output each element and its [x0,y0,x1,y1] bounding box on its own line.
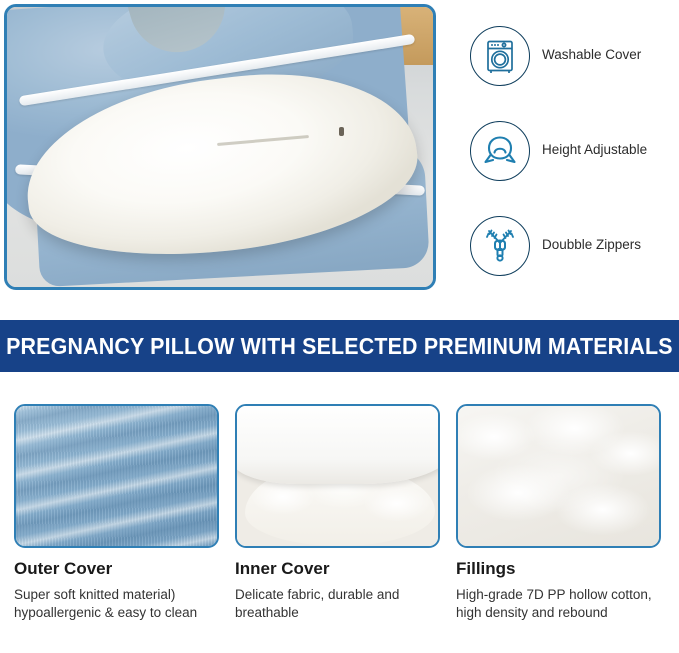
feature-height-adjustable: Height Adjustable [470,103,679,198]
feature-washable-cover: Washable Cover [470,8,679,103]
washing-machine-icon [470,26,530,86]
zipper-icon [470,216,530,276]
inner-cover-thumbnail [235,404,440,548]
material-card-inner-cover: Inner Cover Delicate fabric, durable and… [235,404,440,653]
pillow-notch [118,4,237,64]
outer-cover-thumbnail [14,404,219,548]
hero-scene [7,7,433,287]
material-title: Fillings [456,560,661,579]
blue-knit-texture [16,406,217,546]
material-card-fillings: Fillings High-grade 7D PP hollow cotton,… [456,404,661,653]
feature-label: Washable Cover [542,47,641,63]
material-description: Super soft knitted material) hypoallerge… [14,586,219,622]
material-description: High-grade 7D PP hollow cotton, high den… [456,586,661,622]
hollow-fiber-texture [458,406,659,546]
feature-label: Height Adjustable [542,142,647,158]
inner-cover-texture [237,406,438,546]
banner-text: PREGNANCY PILLOW WITH SELECTED PREMINUM … [6,333,673,360]
material-title: Outer Cover [14,560,219,579]
material-description: Delicate fabric, durable and breathable [235,586,440,622]
product-infographic: Washable Cover Height Adjustable [0,0,679,653]
pillow-height-icon [470,121,530,181]
feature-label: Doubble Zippers [542,237,641,253]
insert-tag [339,127,344,136]
material-title: Inner Cover [235,560,440,579]
material-card-outer-cover: Outer Cover Super soft knitted material)… [14,404,219,653]
fillings-thumbnail [456,404,661,548]
feature-double-zippers: Doubble Zippers [470,198,679,293]
section-banner: PREGNANCY PILLOW WITH SELECTED PREMINUM … [0,320,679,372]
materials-row: Outer Cover Super soft knitted material)… [0,404,679,653]
white-sheet [235,404,440,484]
hero-product-photo [4,4,436,290]
feature-list: Washable Cover Height Adjustable [470,8,679,293]
